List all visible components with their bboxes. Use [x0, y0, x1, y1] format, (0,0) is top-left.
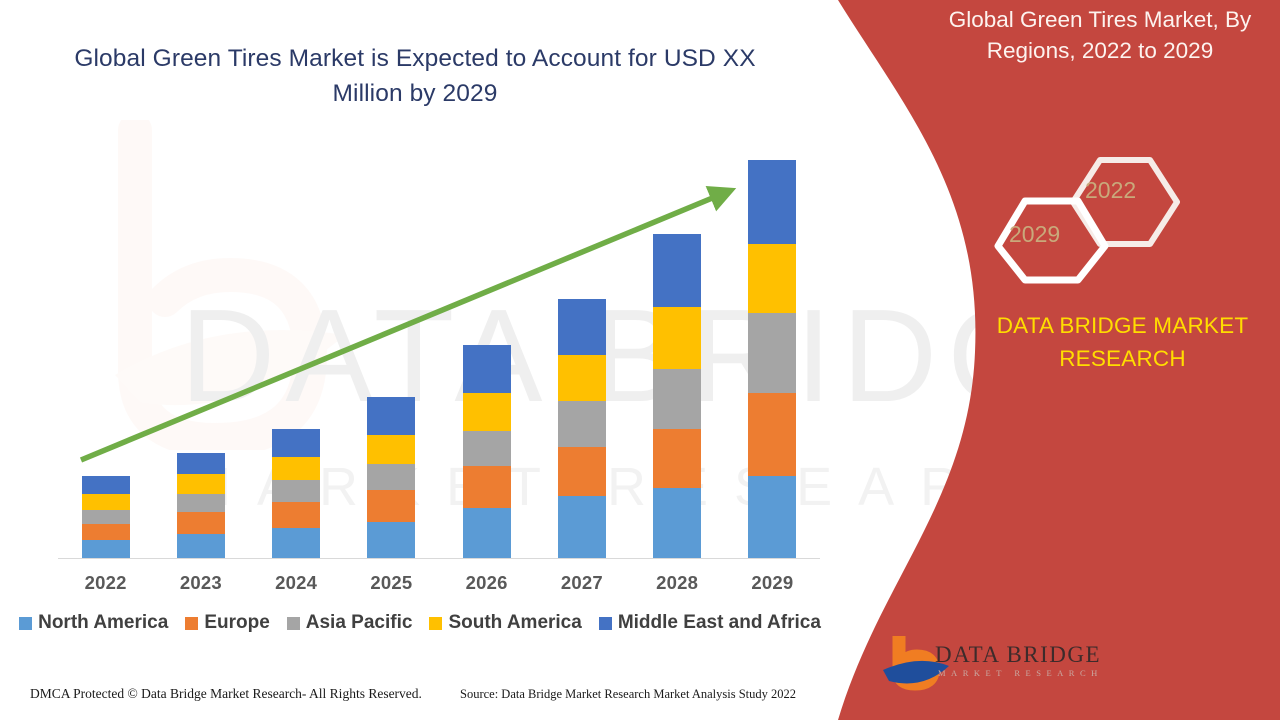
x-axis-label: 2026	[439, 572, 535, 594]
hexagon-label-end: 2029	[1009, 221, 1060, 248]
x-axis-label: 2024	[248, 572, 344, 594]
chart-legend: North AmericaEuropeAsia PacificSouth Ame…	[0, 612, 840, 634]
bar-segment[interactable]	[463, 431, 511, 467]
logo-wordmark: DATA BRIDGE	[935, 642, 1101, 668]
bar-segment[interactable]	[558, 355, 606, 401]
x-axis-label: 2028	[629, 572, 725, 594]
bar-segment[interactable]	[653, 488, 701, 558]
bar-segment[interactable]	[748, 244, 796, 314]
bar-column[interactable]	[748, 160, 796, 558]
brand-name: DATA BRIDGE MARKET RESEARCH	[975, 310, 1270, 375]
bar-segment[interactable]	[748, 393, 796, 477]
bar-segment[interactable]	[82, 524, 130, 540]
bar-column[interactable]	[653, 234, 701, 558]
x-axis-label: 2023	[153, 572, 249, 594]
bar-column[interactable]	[272, 429, 320, 558]
bar-plot-area	[58, 160, 820, 558]
year-hexagons: 2022 2029	[985, 155, 1200, 285]
x-axis-line	[58, 558, 820, 559]
bar-segment[interactable]	[463, 466, 511, 508]
bar-segment[interactable]	[367, 464, 415, 490]
bar-segment[interactable]	[748, 160, 796, 244]
x-axis-label: 2029	[724, 572, 820, 594]
bar-segment[interactable]	[463, 393, 511, 431]
bar-segment[interactable]	[272, 528, 320, 558]
bar-segment[interactable]	[558, 496, 606, 558]
x-axis-label: 2022	[58, 572, 154, 594]
bar-segment[interactable]	[177, 512, 225, 534]
bar-column[interactable]	[82, 476, 130, 558]
dmca-notice: DMCA Protected © Data Bridge Market Rese…	[30, 686, 422, 702]
logo-subtitle: MARKET RESEARCH	[938, 668, 1103, 678]
legend-item[interactable]: Asia Pacific	[287, 612, 413, 634]
bar-column[interactable]	[367, 397, 415, 558]
bar-segment[interactable]	[82, 476, 130, 494]
bar-segment[interactable]	[558, 299, 606, 355]
bar-segment[interactable]	[177, 453, 225, 475]
legend-item[interactable]: South America	[429, 612, 581, 634]
legend-item[interactable]: Middle East and Africa	[599, 612, 821, 634]
hexagon-label-start: 2022	[1085, 177, 1136, 204]
bar-segment[interactable]	[558, 447, 606, 497]
legend-label: Europe	[204, 612, 269, 634]
bar-segment[interactable]	[367, 435, 415, 465]
legend-item[interactable]: North America	[19, 612, 168, 634]
x-axis-label: 2027	[534, 572, 630, 594]
bar-segment[interactable]	[177, 474, 225, 494]
bar-segment[interactable]	[272, 480, 320, 502]
legend-swatch-icon	[287, 617, 300, 630]
legend-swatch-icon	[429, 617, 442, 630]
infographic-canvas: DATA BRIDGE MARKET RESEARCH Global Green…	[0, 0, 1280, 720]
bar-segment[interactable]	[177, 534, 225, 558]
legend-label: Asia Pacific	[306, 612, 413, 634]
bar-segment[interactable]	[653, 234, 701, 308]
stacked-bar-chart: 20222023202420252026202720282029	[0, 0, 840, 600]
legend-swatch-icon	[19, 617, 32, 630]
bar-segment[interactable]	[367, 490, 415, 522]
legend-label: North America	[38, 612, 168, 634]
bar-segment[interactable]	[653, 429, 701, 489]
legend-label: South America	[448, 612, 581, 634]
bar-column[interactable]	[463, 345, 511, 558]
legend-item[interactable]: Europe	[185, 612, 269, 634]
bar-segment[interactable]	[82, 540, 130, 558]
bar-segment[interactable]	[653, 369, 701, 429]
bar-column[interactable]	[177, 453, 225, 558]
panel-title: Global Green Tires Market, By Regions, 2…	[930, 4, 1270, 66]
legend-swatch-icon	[185, 617, 198, 630]
bar-segment[interactable]	[653, 307, 701, 369]
bar-segment[interactable]	[272, 457, 320, 481]
bar-segment[interactable]	[367, 397, 415, 435]
legend-swatch-icon	[599, 617, 612, 630]
bar-segment[interactable]	[558, 401, 606, 447]
bar-segment[interactable]	[82, 494, 130, 510]
bar-segment[interactable]	[82, 510, 130, 524]
bar-segment[interactable]	[748, 476, 796, 558]
hexagon-pair-icon	[985, 155, 1200, 285]
bar-segment[interactable]	[463, 345, 511, 393]
bar-segment[interactable]	[272, 502, 320, 528]
x-axis-labels: 20222023202420252026202720282029	[58, 572, 820, 602]
bar-segment[interactable]	[748, 313, 796, 393]
source-note: Source: Data Bridge Market Research Mark…	[460, 687, 796, 702]
bar-segment[interactable]	[177, 494, 225, 512]
bar-segment[interactable]	[272, 429, 320, 457]
bar-segment[interactable]	[367, 522, 415, 558]
bar-column[interactable]	[558, 299, 606, 558]
legend-label: Middle East and Africa	[618, 612, 821, 634]
x-axis-label: 2025	[343, 572, 439, 594]
bar-segment[interactable]	[463, 508, 511, 558]
